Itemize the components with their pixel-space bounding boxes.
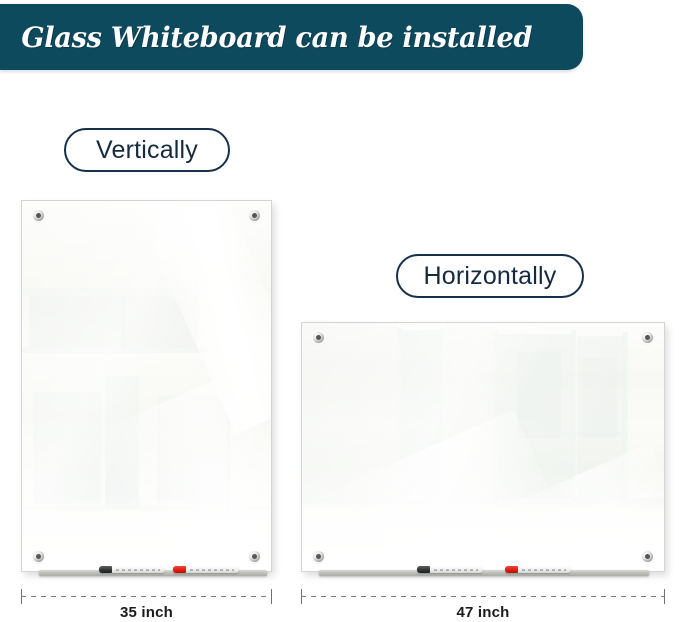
mounting-screw-top-left [33, 210, 44, 221]
orientation-label-vertically-text: Vertically [96, 136, 198, 165]
black-marker-label [116, 569, 160, 571]
mounting-screw-bottom-left [313, 551, 324, 562]
reflection-window-sill-upper [21, 347, 207, 353]
red-marker-label [522, 569, 566, 571]
black-marker-tip [99, 566, 112, 573]
orientation-label-horizontally: Horizontally [396, 254, 584, 298]
whiteboard-vertical-glass [21, 200, 272, 572]
marker-tray-horizontal [319, 570, 649, 576]
dimension-horizontal-line [301, 596, 665, 597]
red-marker [173, 566, 239, 573]
black-marker [417, 566, 483, 573]
dimension-vertical-tick-right [271, 589, 272, 604]
black-marker [99, 566, 165, 573]
red-marker-label [190, 569, 234, 571]
red-marker [505, 566, 571, 573]
red-marker-tip [173, 566, 186, 573]
mounting-screw-bottom-right [249, 551, 260, 562]
mounting-screw-top-left [313, 332, 324, 343]
whiteboard-horizontal-glass [301, 322, 665, 572]
dimension-vertical-tick-left [21, 589, 22, 604]
reflection-lower-window-left [33, 392, 101, 504]
reflection-window-mullion-upper [121, 296, 125, 348]
mounting-screw-top-right [249, 210, 260, 221]
red-marker-tip [505, 566, 518, 573]
mounting-screw-bottom-right [642, 551, 653, 562]
orientation-label-horizontally-text: Horizontally [423, 262, 556, 291]
dimension-vertical-label: 35 inch [21, 604, 272, 621]
reflection-upper-window [29, 296, 197, 348]
glass-floor-sheen [21, 494, 272, 572]
dimension-horizontal-tick-right [664, 589, 665, 604]
mounting-screw-top-right [642, 332, 653, 343]
whiteboard-horizontal [301, 322, 665, 572]
mounting-screw-bottom-left [33, 551, 44, 562]
dimension-vertical-line [21, 596, 272, 597]
black-marker-label [434, 569, 478, 571]
reflection-building-silhouette [517, 352, 561, 438]
page-title: Glass Whiteboard can be installed [0, 21, 532, 54]
dimension-horizontal-tick-left [301, 589, 302, 604]
black-marker-tip [417, 566, 430, 573]
whiteboard-vertical [21, 200, 272, 572]
orientation-label-vertically: Vertically [64, 128, 230, 172]
dimension-horizontal-label: 47 inch [301, 604, 665, 621]
header-banner: Glass Whiteboard can be installed [0, 4, 583, 70]
glass-floor-sheen [301, 500, 665, 572]
